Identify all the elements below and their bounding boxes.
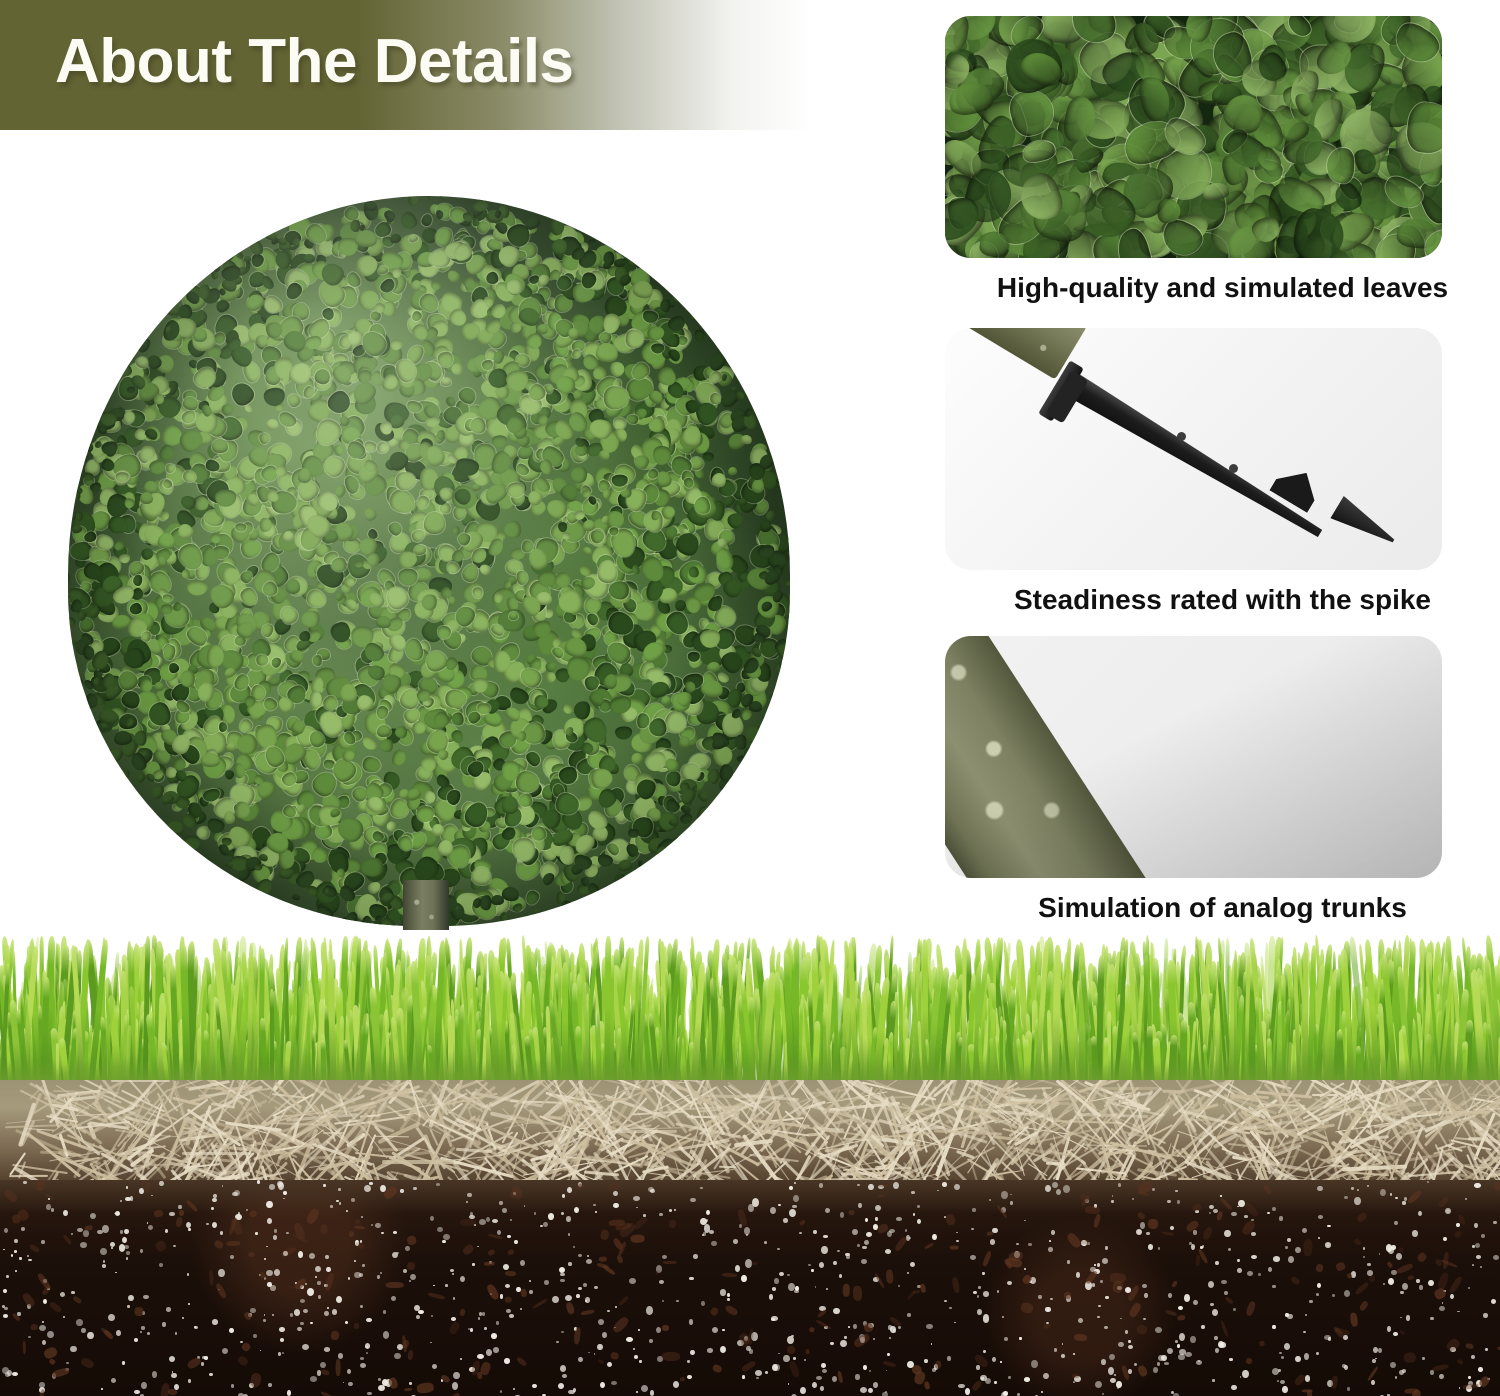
foliage-leaf <box>440 377 450 385</box>
foliage-sprig <box>697 789 711 803</box>
foliage-leaf <box>695 329 705 341</box>
foliage-leaf <box>361 755 382 774</box>
foliage-sprig <box>423 196 431 202</box>
foliage-sprig <box>614 220 636 242</box>
foliage-sprig <box>763 733 779 748</box>
foliage-sprig <box>350 220 360 232</box>
foliage-sprig <box>78 395 98 414</box>
foliage-sprig <box>696 804 714 824</box>
foliage-leaf <box>544 671 556 683</box>
foliage-sprig <box>688 307 699 321</box>
foliage-sprig <box>134 335 152 354</box>
foliage-sprig <box>203 860 214 870</box>
foliage-leaf <box>740 434 752 445</box>
foliage-leaf <box>265 417 281 432</box>
foliage-sprig <box>149 309 157 318</box>
foliage-leaf <box>212 438 228 453</box>
foliage-leaf <box>516 570 529 585</box>
foliage-leaf <box>609 360 627 378</box>
foliage-sprig <box>532 907 542 916</box>
foliage-sprig <box>785 609 790 619</box>
foliage-leaf <box>561 703 574 716</box>
foliage-sprig <box>751 400 762 411</box>
foliage-leaf <box>228 379 258 409</box>
foliage-sprig <box>281 905 295 923</box>
foliage-sprig <box>436 196 449 201</box>
foliage-sprig <box>743 746 758 764</box>
foliage-leaf <box>201 753 220 768</box>
foliage-leaf <box>236 734 256 754</box>
foliage-sprig <box>483 196 501 197</box>
foliage-sprig <box>628 255 644 268</box>
foliage-leaf <box>260 518 272 532</box>
foliage-sprig <box>625 239 636 251</box>
foliage-sprig <box>725 336 733 343</box>
foliage-sprig <box>244 256 252 263</box>
foliage-leaf <box>436 430 444 440</box>
foliage-leaf <box>626 329 644 347</box>
foliage-sprig <box>658 260 674 279</box>
foliage-leaf <box>445 268 462 285</box>
foliage-sprig <box>785 578 790 587</box>
foliage-leaf <box>225 743 235 751</box>
foliage-sprig <box>123 771 129 778</box>
foliage-sprig <box>339 196 349 206</box>
foliage-sprig <box>744 342 759 360</box>
foliage-sprig <box>372 920 382 926</box>
foliage-sprig <box>660 299 671 313</box>
foliage-sprig <box>511 196 520 204</box>
foliage-leaf <box>523 889 540 907</box>
foliage-sprig <box>234 886 241 895</box>
foliage-leaf <box>339 684 357 704</box>
foliage-leaf <box>502 796 519 814</box>
foliage-leaf <box>727 466 738 476</box>
foliage-sprig <box>588 238 596 245</box>
foliage-leaf <box>472 678 487 693</box>
foliage-leaf <box>132 574 142 586</box>
foliage-leaf <box>451 363 463 376</box>
foliage-leaf <box>276 250 291 268</box>
foliage-sprig <box>75 512 83 521</box>
foliage-sprig <box>281 196 302 211</box>
foliage-sprig <box>617 859 633 873</box>
foliage-leaf <box>627 414 638 424</box>
foliage-leaf <box>179 669 195 687</box>
foliage-sprig <box>196 241 219 263</box>
ground-cross-section <box>0 930 1500 1396</box>
foliage-sprig <box>279 868 293 879</box>
foliage-sprig <box>407 196 419 206</box>
foliage-leaf <box>362 506 379 523</box>
foliage-sprig <box>768 691 785 707</box>
foliage-leaf <box>354 229 376 247</box>
foliage-leaf <box>397 209 419 232</box>
foliage-sprig <box>776 476 786 484</box>
foliage-sprig <box>529 205 536 213</box>
foliage-sprig <box>71 430 83 440</box>
foliage-sprig <box>594 908 600 915</box>
foliage-leaf <box>353 559 363 567</box>
foliage-sprig <box>68 616 76 627</box>
foliage-sprig <box>541 206 553 219</box>
foliage-sprig <box>190 260 204 272</box>
foliage-sprig <box>472 218 479 226</box>
foliage-leaf <box>313 655 323 666</box>
foliage-sprig <box>652 861 665 876</box>
foliage-leaf <box>399 569 418 586</box>
foliage-sprig <box>789 495 790 512</box>
foliage-leaf <box>367 553 381 567</box>
foliage-leaf <box>615 725 633 739</box>
foliage-leaf <box>286 579 301 594</box>
topiary-foliage-ball <box>68 196 790 926</box>
foliage-leaf <box>525 750 544 769</box>
foliage-sprig <box>638 860 645 868</box>
foliage-leaf <box>380 738 394 752</box>
foliage-leaf <box>668 334 679 347</box>
foliage-leaf <box>221 402 235 416</box>
foliage-leaf <box>390 339 402 350</box>
foliage-sprig <box>781 686 788 692</box>
foliage-leaf <box>187 580 208 595</box>
foliage-sprig <box>242 211 260 227</box>
foliage-sprig <box>522 196 534 205</box>
foliage-leaf <box>510 322 521 333</box>
foliage-leaf <box>678 736 690 748</box>
foliage-leaf <box>390 749 408 769</box>
foliage-sprig <box>68 572 71 585</box>
foliage-sprig <box>291 894 300 902</box>
foliage-sprig <box>181 257 191 268</box>
foliage-leaf <box>420 213 433 227</box>
foliage-leaf <box>431 824 444 836</box>
foliage-leaf <box>154 681 164 691</box>
foliage-sprig <box>80 454 87 462</box>
